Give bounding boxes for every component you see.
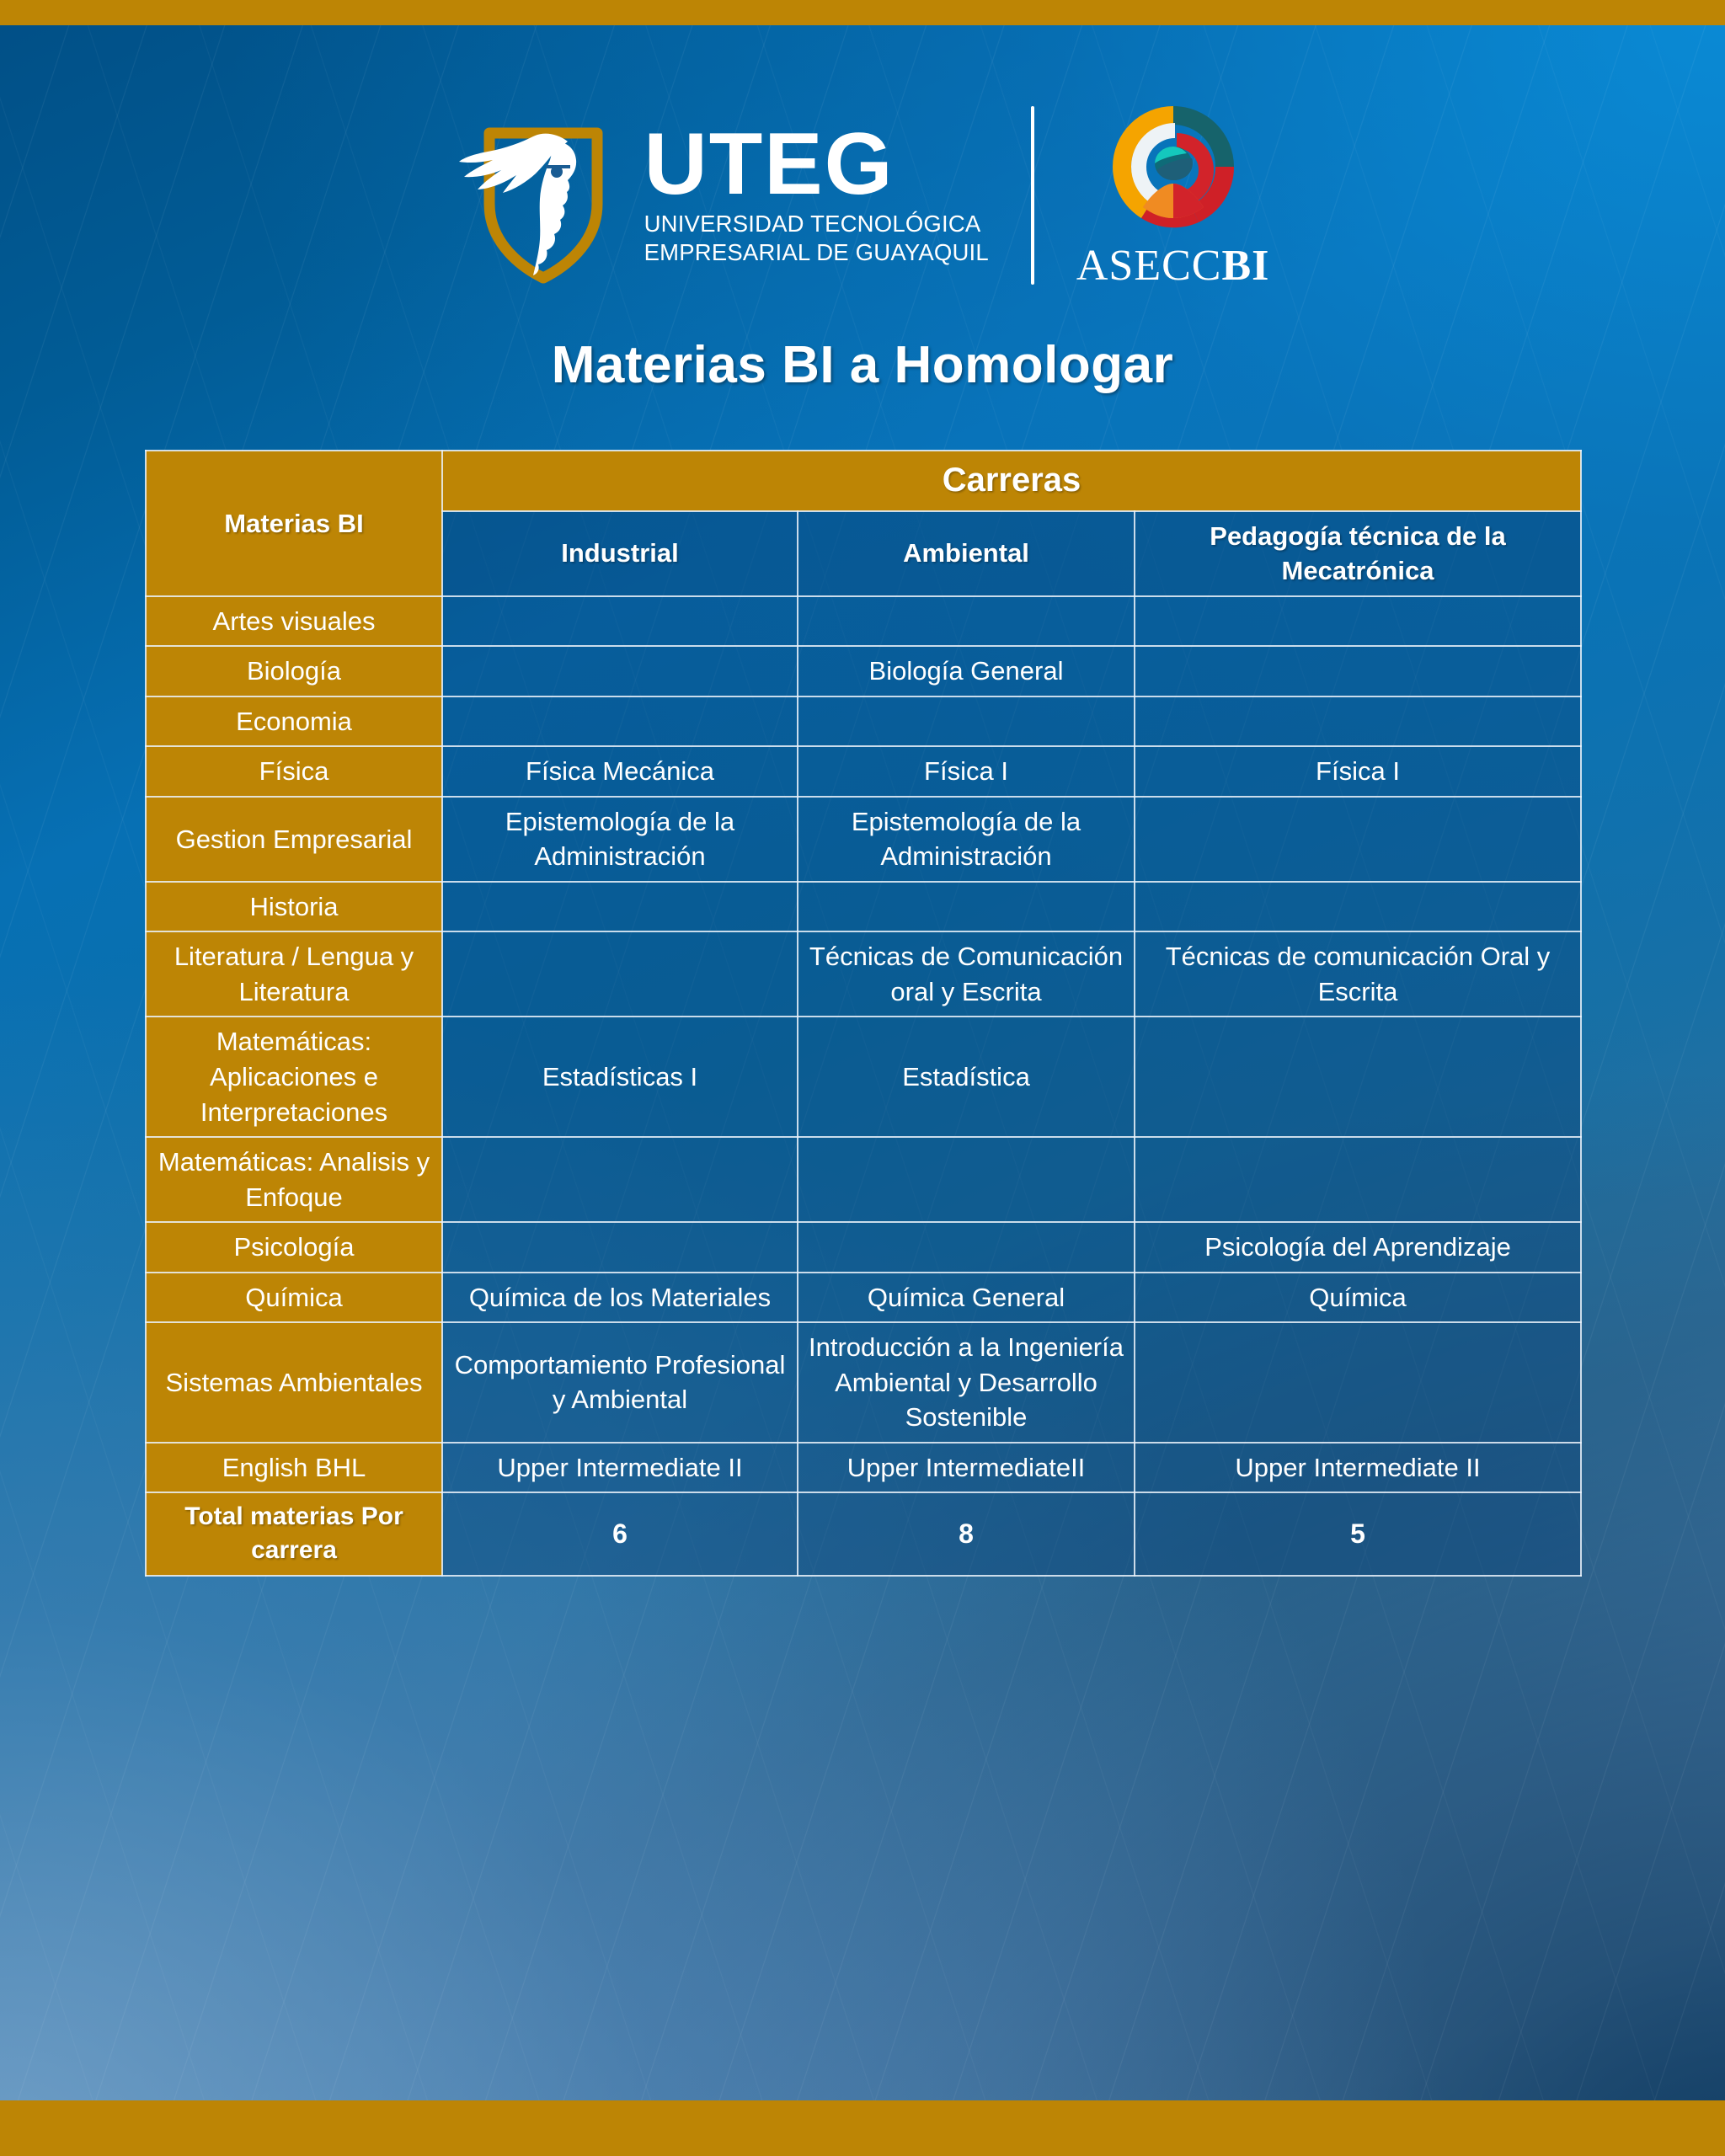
row-subject: Artes visuales: [146, 596, 442, 647]
row-industrial: Comportamiento Profesional y Ambiental: [442, 1322, 798, 1443]
row-subject: English BHL: [146, 1443, 442, 1493]
row-ambiental: Epistemología de la Administración: [798, 797, 1135, 882]
row-ambiental: [798, 882, 1135, 932]
table-row: English BHL Upper Intermediate II Upper …: [146, 1443, 1581, 1493]
row-mecatronica: [1135, 646, 1581, 696]
row-ambiental: Estadística: [798, 1017, 1135, 1137]
row-ambiental: Biología General: [798, 646, 1135, 696]
header-career-ambiental: Ambiental: [798, 511, 1135, 596]
table-body: Artes visuales Biología Biología General…: [146, 596, 1581, 1576]
table-row: Matemáticas: Analisis y Enfoque: [146, 1137, 1581, 1222]
table-row: Biología Biología General: [146, 646, 1581, 696]
total-ambiental: 8: [798, 1492, 1135, 1575]
aseccbi-swirl-icon: [1106, 99, 1241, 234]
row-ambiental: [798, 696, 1135, 747]
table-row: Sistemas Ambientales Comportamiento Prof…: [146, 1322, 1581, 1443]
row-ambiental: Química General: [798, 1273, 1135, 1323]
bottom-gold-bar: [0, 2100, 1725, 2156]
row-mecatronica: [1135, 596, 1581, 647]
table-row: Artes visuales: [146, 596, 1581, 647]
row-industrial: [442, 646, 798, 696]
uteg-name: UTEG: [644, 124, 989, 206]
aseccbi-name-bold: BI: [1221, 242, 1269, 290]
logo-divider: [1031, 106, 1034, 285]
row-mecatronica: Química: [1135, 1273, 1581, 1323]
total-label: Total materias Por carrera: [146, 1492, 442, 1575]
row-ambiental: [798, 596, 1135, 647]
row-subject: Economia: [146, 696, 442, 747]
aseccbi-name-light: ASECC: [1076, 242, 1222, 290]
table-row: Química Química de los Materiales Químic…: [146, 1273, 1581, 1323]
row-mecatronica: [1135, 696, 1581, 747]
table-row: Física Física Mecánica Física I Física I: [146, 746, 1581, 797]
row-ambiental: [798, 1222, 1135, 1273]
logo-row: UTEG UNIVERSIDAD TECNOLÓGICA EMPRESARIAL…: [0, 99, 1725, 291]
table-row: Gestion Empresarial Epistemología de la …: [146, 797, 1581, 882]
uteg-shield-mercury-icon: [456, 104, 633, 286]
row-subject: Psicología: [146, 1222, 442, 1273]
row-mecatronica: [1135, 1017, 1581, 1137]
aseccbi-logo: ASECCBI: [1076, 99, 1270, 291]
row-mecatronica: [1135, 1322, 1581, 1443]
page-title: Materias BI a Homologar: [0, 335, 1725, 395]
uteg-logo: UTEG UNIVERSIDAD TECNOLÓGICA EMPRESARIAL…: [456, 104, 989, 286]
table-row: Historia: [146, 882, 1581, 932]
header-career-mecatronica: Pedagogía técnica de la Mecatrónica: [1135, 511, 1581, 596]
row-subject: Química: [146, 1273, 442, 1323]
row-mecatronica: Psicología del Aprendizaje: [1135, 1222, 1581, 1273]
table-total-row: Total materias Por carrera 6 8 5: [146, 1492, 1581, 1575]
row-ambiental: Física I: [798, 746, 1135, 797]
row-ambiental: [798, 1137, 1135, 1222]
header-materias-bi: Materias BI: [146, 451, 442, 596]
row-industrial: [442, 1222, 798, 1273]
uteg-wordmark: UTEG UNIVERSIDAD TECNOLÓGICA EMPRESARIAL…: [644, 124, 989, 267]
poster-page: UTEG UNIVERSIDAD TECNOLÓGICA EMPRESARIAL…: [0, 0, 1725, 2156]
row-subject: Física: [146, 746, 442, 797]
row-industrial: Química de los Materiales: [442, 1273, 798, 1323]
table-row: Matemáticas: Aplicaciones e Interpretaci…: [146, 1017, 1581, 1137]
row-mecatronica: [1135, 882, 1581, 932]
row-ambiental: Técnicas de Comunicación oral y Escrita: [798, 931, 1135, 1017]
total-industrial: 6: [442, 1492, 798, 1575]
row-industrial: Estadísticas I: [442, 1017, 798, 1137]
row-mecatronica: Física I: [1135, 746, 1581, 797]
row-industrial: Upper Intermediate II: [442, 1443, 798, 1493]
header-carreras: Carreras: [442, 451, 1581, 511]
row-subject: Matemáticas: Analisis y Enfoque: [146, 1137, 442, 1222]
row-industrial: [442, 882, 798, 932]
row-industrial: [442, 596, 798, 647]
row-ambiental: Upper IntermediateII: [798, 1443, 1135, 1493]
row-ambiental: Introducción a la Ingeniería Ambiental y…: [798, 1322, 1135, 1443]
top-gold-bar: [0, 0, 1725, 25]
total-mecatronica: 5: [1135, 1492, 1581, 1575]
row-industrial: Física Mecánica: [442, 746, 798, 797]
row-industrial: Epistemología de la Administración: [442, 797, 798, 882]
row-industrial: [442, 1137, 798, 1222]
row-subject: Matemáticas: Aplicaciones e Interpretaci…: [146, 1017, 442, 1137]
row-subject: Biología: [146, 646, 442, 696]
row-industrial: [442, 931, 798, 1017]
homologation-table-wrapper: Materias BI Carreras Industrial Ambienta…: [145, 450, 1580, 1577]
row-subject: Sistemas Ambientales: [146, 1322, 442, 1443]
table-header-row-group: Materias BI Carreras: [146, 451, 1581, 511]
table-row: Economia: [146, 696, 1581, 747]
row-mecatronica: [1135, 1137, 1581, 1222]
row-subject: Literatura / Lengua y Literatura: [146, 931, 442, 1017]
row-mecatronica: Upper Intermediate II: [1135, 1443, 1581, 1493]
row-mecatronica: Técnicas de comunicación Oral y Escrita: [1135, 931, 1581, 1017]
table-row: Psicología Psicología del Aprendizaje: [146, 1222, 1581, 1273]
header-career-industrial: Industrial: [442, 511, 798, 596]
row-subject: Historia: [146, 882, 442, 932]
row-subject: Gestion Empresarial: [146, 797, 442, 882]
row-industrial: [442, 696, 798, 747]
table-row: Literatura / Lengua y Literatura Técnica…: [146, 931, 1581, 1017]
aseccbi-wordmark: ASECCBI: [1076, 241, 1270, 291]
uteg-tagline-line1: UNIVERSIDAD TECNOLÓGICA: [644, 211, 981, 237]
homologation-table: Materias BI Carreras Industrial Ambienta…: [145, 450, 1582, 1577]
row-mecatronica: [1135, 797, 1581, 882]
uteg-tagline-line2: EMPRESARIAL DE GUAYAQUIL: [644, 239, 989, 265]
